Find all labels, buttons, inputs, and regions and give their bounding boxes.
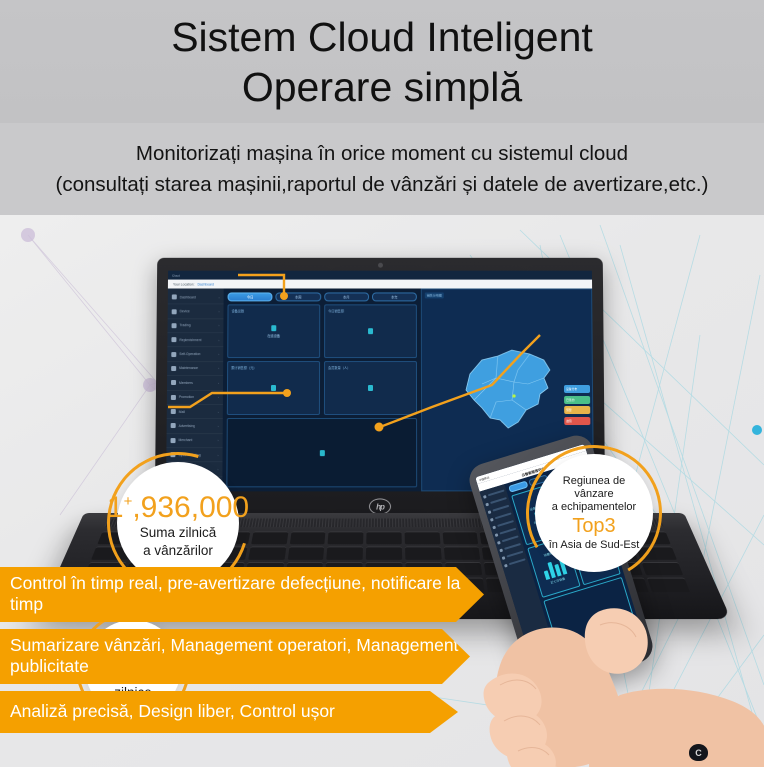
sidebar-item-device[interactable]: Device › xyxy=(168,305,224,319)
feature-banner-2-text: Sumarizare vânzări, Management operatori… xyxy=(0,629,470,684)
legend-chip-fault[interactable]: 故障 xyxy=(564,417,590,425)
kpi-card-device-total[interactable]: 设备总数 在线设备 xyxy=(227,304,320,358)
sidebar-item-maintenance[interactable]: Maintenance › xyxy=(167,362,223,376)
wrench-icon xyxy=(171,366,176,371)
sidebar-item-label: Trading xyxy=(180,324,191,328)
breadcrumb: Your Location: Dashboard xyxy=(168,280,592,289)
callout-sales-region: Regiunea de vânzare a echipamentelor Top… xyxy=(535,454,653,572)
sidebar-item-promotion[interactable]: Promotion › xyxy=(167,391,223,405)
page-title-line1: Sistem Cloud Inteligent xyxy=(171,12,593,62)
webcam-icon xyxy=(378,263,383,268)
callout-region-line1: Regiunea de xyxy=(563,475,625,488)
subtitle-line2: (consultați starea mașinii,raportul de v… xyxy=(56,169,709,200)
callout-sales-rest: ,936,000 xyxy=(132,491,249,524)
chevron-right-icon: › xyxy=(218,395,219,399)
sidebar-item-mall[interactable]: Mall › xyxy=(167,405,223,419)
page-title-line2: Operare simplă xyxy=(242,62,522,112)
mall-icon xyxy=(171,409,176,414)
kpi-card-members[interactable]: 会员数量（人） xyxy=(324,361,417,415)
sidebar-item-merchant[interactable]: Merchant › xyxy=(166,434,222,448)
subtitle-line1: Monitorizați mașina în orice moment cu s… xyxy=(136,138,628,169)
callout-sales-label2: a vânzărilor xyxy=(143,543,213,559)
chevron-right-icon: › xyxy=(219,309,220,313)
chevron-right-icon: › xyxy=(218,324,219,328)
feature-banner-1[interactable]: Control în timp real, pre-avertizare def… xyxy=(0,567,500,622)
sidebar-item-self-operation[interactable]: Self-Operation › xyxy=(167,348,223,362)
sidebar-item-label: Mall xyxy=(179,410,185,414)
image-placeholder-icon xyxy=(368,328,373,334)
legend-label: 已签约 xyxy=(566,398,574,402)
map-tag-label: 销售分布图 xyxy=(425,292,444,298)
chevron-right-icon: › xyxy=(218,438,219,442)
corner-logo-letter: C xyxy=(695,748,702,758)
tab-today[interactable]: 今日 xyxy=(228,292,273,301)
dashboard-topbar: Cloud xyxy=(168,271,592,280)
photo-stage: Cloud Your Location: Dashboard Dashboard… xyxy=(0,215,764,767)
grid-icon xyxy=(172,295,177,300)
map-legend: 设备分布 已签约 预警 故障 xyxy=(564,385,590,425)
legend-label: 预警 xyxy=(566,408,572,412)
sidebar-item-label: Promotion xyxy=(179,395,194,399)
legend-chip-warning[interactable]: 预警 xyxy=(564,406,590,414)
image-placeholder-icon xyxy=(319,450,324,456)
feature-banner-1-text: Control în timp real, pre-avertizare def… xyxy=(0,567,484,622)
sidebar-item-trading[interactable]: Trading › xyxy=(167,319,223,333)
tab-month[interactable]: 本月 xyxy=(324,292,369,301)
legend-label: 设备分布 xyxy=(566,387,577,391)
legend-chip-device[interactable]: 设备分布 xyxy=(564,385,590,393)
sidebar-item-label: Maintenance xyxy=(179,367,198,371)
callout-region-line3: a echipamentelor xyxy=(552,501,636,514)
header-title-band: Sistem Cloud Inteligent Operare simplă xyxy=(0,0,764,123)
sidebar-item-label: Dashboard xyxy=(180,295,196,299)
merchant-icon xyxy=(171,438,176,443)
device-icon xyxy=(172,309,177,314)
callout-sales-number: 1 xyxy=(107,491,124,524)
chevron-right-icon: › xyxy=(218,338,219,342)
sidebar-item-advertising[interactable]: Advertising › xyxy=(167,419,223,433)
tab-week[interactable]: 本周 xyxy=(276,292,321,301)
chevron-right-icon: › xyxy=(218,352,219,356)
china-map-graphic xyxy=(452,344,563,436)
callout-daily-sales: 1+,936,000 Suma zilnică a vânzărilor xyxy=(117,462,239,584)
breadcrumb-value[interactable]: Dashboard xyxy=(197,282,214,286)
feature-banner-list: Control în timp real, pre-avertizare def… xyxy=(0,567,500,740)
members-icon xyxy=(171,380,176,385)
dashboard-tabs: 今日 本周 本月 本年 xyxy=(228,292,417,301)
sidebar-item-label: Merchant xyxy=(179,438,193,442)
sidebar-item-members[interactable]: Members › xyxy=(167,376,223,390)
replenishment-icon xyxy=(171,337,176,342)
image-placeholder-icon xyxy=(271,325,276,331)
chevron-right-icon: › xyxy=(218,424,219,428)
tab-year[interactable]: 本年 xyxy=(372,292,417,301)
chevron-right-icon: › xyxy=(218,381,219,385)
callout-sales-label1: Suma zilnică xyxy=(140,525,217,541)
corner-brand-logo-icon: C xyxy=(689,744,708,761)
kpi-card-row-2: 累计销售额（元） 会员数量（人） xyxy=(227,361,417,415)
kpi-card-today-sales[interactable]: 今日销售额 xyxy=(324,304,417,358)
callout-region-line4: în Asia de Sud-Est xyxy=(549,539,640,552)
poster-root: Sistem Cloud Inteligent Operare simplă M… xyxy=(0,0,764,767)
advertising-icon xyxy=(171,423,176,428)
breadcrumb-label: Your Location: xyxy=(173,282,195,286)
feature-banner-2[interactable]: Sumarizare vânzări, Management operatori… xyxy=(0,629,500,684)
kpi-card-total-sales[interactable]: 累计销售额（元） xyxy=(227,361,320,415)
dashboard-main: 今日 本周 本月 本年 设备总数 在线设备 xyxy=(222,288,421,491)
trading-icon xyxy=(172,323,177,328)
sidebar-item-label: Advertising xyxy=(179,424,195,428)
sidebar-item-replenishment[interactable]: Replenishment › xyxy=(167,333,223,347)
self-operation-icon xyxy=(171,352,176,357)
header-subtitle-band: Monitorizați mașina în orice moment cu s… xyxy=(0,123,764,215)
card-center-label: 在线设备 xyxy=(267,333,280,338)
legend-label: 故障 xyxy=(566,419,572,423)
sidebar-item-label: Self-Operation xyxy=(179,352,200,356)
image-placeholder-icon xyxy=(368,385,373,391)
callout-sales-value: 1+,936,000 xyxy=(107,487,249,523)
kpi-card-row-1: 设备总数 在线设备 今日销售额 xyxy=(227,304,417,358)
chevron-right-icon: › xyxy=(218,410,219,414)
promotion-icon xyxy=(171,395,176,400)
sidebar-item-label: Members xyxy=(179,381,193,385)
callout-region-rank: Top3 xyxy=(572,515,615,538)
chevron-right-icon: › xyxy=(218,367,219,371)
dashboard-topbar-title: Cloud xyxy=(172,273,180,277)
chevron-right-icon: › xyxy=(218,453,219,457)
callout-region-line2: vânzare xyxy=(574,488,613,501)
sidebar-item-label: Replenishment xyxy=(179,338,201,342)
wide-chart-panel[interactable] xyxy=(226,418,417,487)
feature-banner-3-text: Analiză precisă, Design liber, Control u… xyxy=(0,691,458,733)
legend-chip-signed[interactable]: 已签约 xyxy=(564,396,590,404)
sidebar-item-dashboard[interactable]: Dashboard › xyxy=(168,290,224,304)
image-placeholder-icon xyxy=(271,385,276,391)
sidebar-item-label: Device xyxy=(180,309,190,313)
feature-banner-3[interactable]: Analiză precisă, Design liber, Control u… xyxy=(0,691,500,733)
chevron-right-icon: › xyxy=(219,295,220,299)
